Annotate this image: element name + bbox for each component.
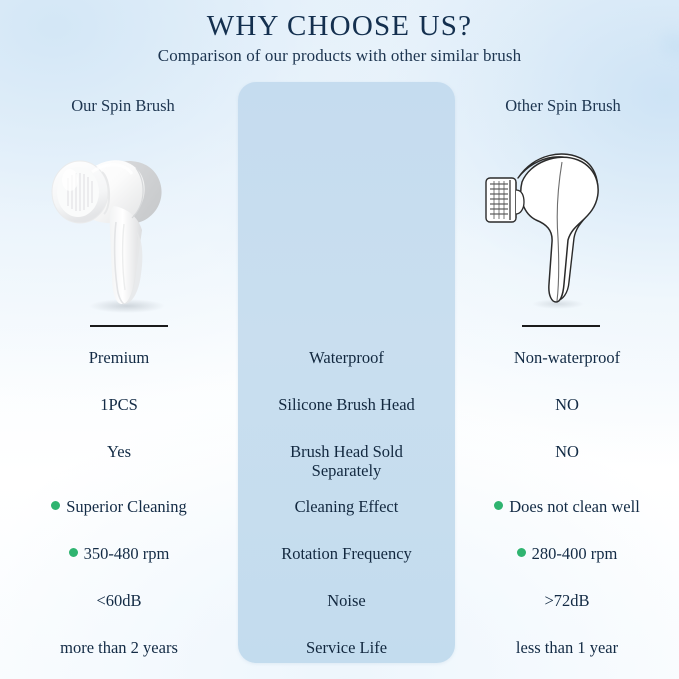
other-value-text: 280-400 rpm	[532, 544, 618, 563]
table-row: Yes Brush Head Sold Separately NO	[0, 434, 679, 489]
page-title: WHY CHOOSE US?	[0, 10, 679, 43]
other-value-cell: less than 1 year	[455, 630, 679, 657]
feature-label: Noise	[319, 591, 374, 610]
other-value-text: Does not clean well	[509, 497, 640, 516]
bullet-dot-icon	[69, 548, 78, 557]
other-value-text: NO	[555, 442, 579, 461]
feature-label-cell: Rotation Frequency	[238, 536, 455, 563]
divider-right	[522, 325, 600, 327]
other-value-cell: Non-waterproof	[455, 340, 679, 367]
feature-label: Silicone Brush Head	[270, 395, 423, 414]
other-value-cell: NO	[455, 434, 679, 461]
our-value-text: 1PCS	[100, 395, 138, 414]
feature-label: Brush Head Sold Separately	[282, 442, 411, 480]
feature-label-cell: Silicone Brush Head	[238, 387, 455, 414]
feature-label: Cleaning Effect	[287, 497, 407, 516]
our-value-text: 350-480 rpm	[84, 544, 170, 563]
feature-label-line2: Separately	[312, 461, 382, 480]
our-value-text: <60dB	[96, 591, 141, 610]
table-row: Premium Waterproof Non-waterproof	[0, 340, 679, 387]
table-row: <60dB Noise >72dB	[0, 583, 679, 630]
other-value-cell: 280-400 rpm	[455, 536, 679, 563]
our-value-cell: Premium	[0, 340, 238, 367]
our-value-text: Yes	[107, 442, 131, 461]
our-value-text: Superior Cleaning	[66, 497, 187, 516]
bullet-dot-icon	[494, 501, 503, 510]
other-value-cell: >72dB	[455, 583, 679, 610]
column-header-our-brush: Our Spin Brush	[8, 96, 238, 116]
other-value-text: Non-waterproof	[514, 348, 620, 367]
other-value-cell: NO	[455, 387, 679, 414]
feature-label-cell: Service Life	[238, 630, 455, 657]
feature-label-cell: Noise	[238, 583, 455, 610]
feature-label-line1: Brush Head Sold	[290, 442, 403, 461]
our-value-cell: 1PCS	[0, 387, 238, 414]
feature-label-cell: Brush Head Sold Separately	[238, 434, 455, 480]
other-spin-brush-image	[466, 134, 656, 316]
table-row: 350-480 rpm Rotation Frequency 280-400 r…	[0, 536, 679, 583]
comparison-rows: Premium Waterproof Non-waterproof 1PCS S…	[0, 340, 679, 677]
our-value-cell: <60dB	[0, 583, 238, 610]
table-row: 1PCS Silicone Brush Head NO	[0, 387, 679, 434]
bullet-dot-icon	[51, 501, 60, 510]
other-value-text: >72dB	[544, 591, 589, 610]
our-spin-brush-image	[32, 134, 222, 316]
page-subtitle: Comparison of our products with other si…	[0, 46, 679, 66]
our-value-text: Premium	[89, 348, 150, 367]
feature-label: Service Life	[298, 638, 395, 657]
comparison-infographic: WHY CHOOSE US? Comparison of our product…	[0, 0, 679, 679]
feature-label: Waterproof	[301, 348, 392, 367]
column-header-other-brush: Other Spin Brush	[448, 96, 678, 116]
table-row: more than 2 years Service Life less than…	[0, 630, 679, 677]
our-value-cell: Yes	[0, 434, 238, 461]
other-value-text: NO	[555, 395, 579, 414]
table-row: Superior Cleaning Cleaning Effect Does n…	[0, 489, 679, 536]
other-value-text: less than 1 year	[516, 638, 618, 657]
our-value-cell: more than 2 years	[0, 630, 238, 657]
feature-label-cell: Cleaning Effect	[238, 489, 455, 516]
feature-label-cell: Waterproof	[238, 340, 455, 367]
our-value-cell: 350-480 rpm	[0, 536, 238, 563]
our-value-cell: Superior Cleaning	[0, 489, 238, 516]
bullet-dot-icon	[517, 548, 526, 557]
our-value-text: more than 2 years	[60, 638, 178, 657]
divider-left	[90, 325, 168, 327]
other-value-cell: Does not clean well	[455, 489, 679, 516]
feature-label: Rotation Frequency	[273, 544, 420, 563]
